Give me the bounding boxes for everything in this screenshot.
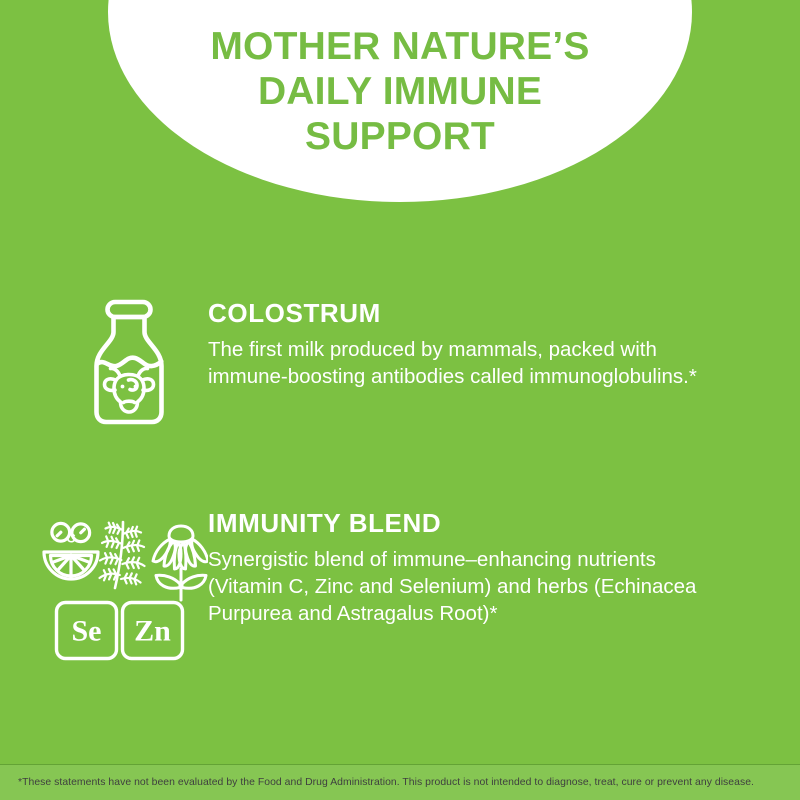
feature-immunity-blend-text: IMMUNITY BLEND Synergistic blend of immu… — [208, 508, 736, 627]
feature-immunity-blend-body: Synergistic blend of immune–enhancing nu… — [208, 546, 736, 627]
feature-colostrum-text: COLOSTRUM The first milk produced by mam… — [208, 296, 738, 390]
footer-disclaimer-band: *These statements have not been evaluate… — [0, 764, 800, 800]
astragalus-sprig-glyph — [100, 522, 145, 588]
page-title-line-3: SUPPORT — [120, 114, 680, 159]
page-title-line-1: MOTHER NATURE’S — [120, 24, 680, 69]
feature-colostrum: COLOSTRUM The first milk produced by mam… — [78, 296, 738, 431]
immunity-blend-icon: C — [36, 514, 208, 664]
citrus-vitamin-c-glyph: C — [44, 523, 98, 579]
milk-bottle-icon — [78, 296, 208, 431]
selenium-symbol-label: Se — [72, 615, 102, 648]
page-title: MOTHER NATURE’S DAILY IMMUNE SUPPORT — [120, 24, 680, 159]
feature-colostrum-heading: COLOSTRUM — [208, 298, 738, 328]
mineral-symbol-boxes: Se Zn — [57, 603, 183, 659]
feature-immunity-blend: C — [36, 508, 736, 664]
footer-disclaimer-text: *These statements have not been evaluate… — [0, 776, 768, 789]
feature-colostrum-body: The first milk produced by mammals, pack… — [208, 336, 738, 390]
feature-immunity-blend-heading: IMMUNITY BLEND — [208, 508, 736, 538]
vitamin-c-letter: C — [66, 531, 76, 546]
product-infographic: MOTHER NATURE’S DAILY IMMUNE SUPPORT — [0, 0, 800, 800]
echinacea-flower-glyph — [153, 526, 208, 600]
page-title-line-2: DAILY IMMUNE — [120, 69, 680, 114]
zinc-symbol-label: Zn — [134, 615, 171, 648]
